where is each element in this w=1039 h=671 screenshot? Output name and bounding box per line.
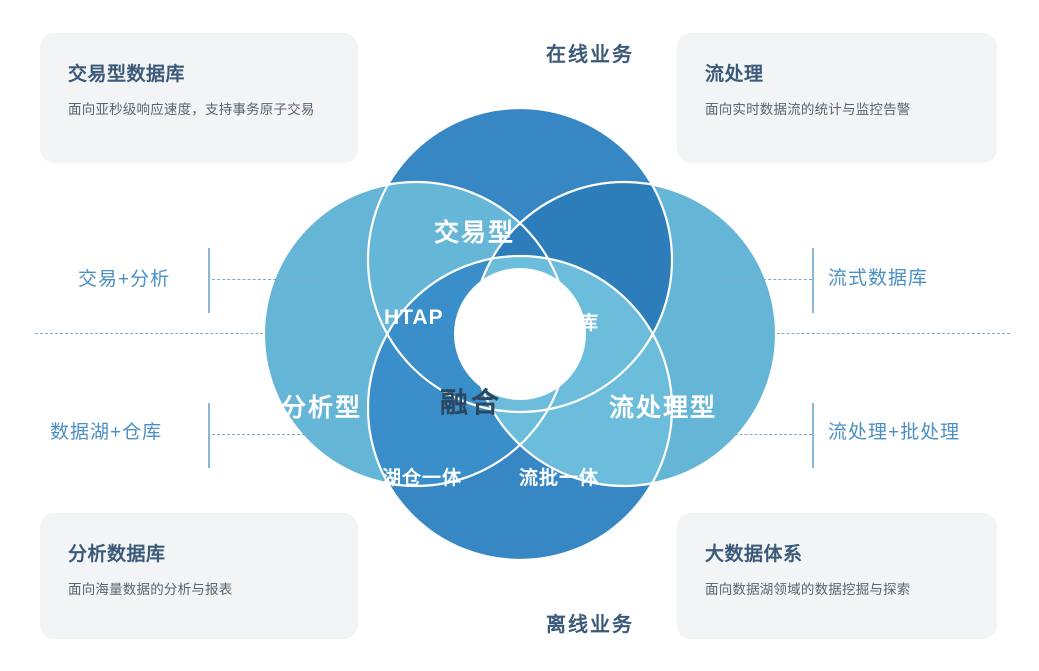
diagram-root: 交易型 分析型 流处理型 大数据 HTAP 流数据库 湖仓一体 流批一体 融合 … <box>0 0 1039 671</box>
dashed-connector-left-upper <box>212 279 327 280</box>
card-description: 面向数据湖领域的数据挖掘与探索 <box>705 578 969 602</box>
card-description: 面向亚秒级响应速度，支持事务原子交易 <box>68 98 330 122</box>
info-card-stream-processing: 流处理 面向实时数据流的统计与监控告警 <box>677 33 997 163</box>
axis-label-offline: 离线业务 <box>546 608 634 637</box>
venn-center-disc <box>454 268 586 400</box>
info-card-bigdata-system: 大数据体系 面向数据湖领域的数据挖掘与探索 <box>677 513 997 639</box>
side-label-right-lower: 流处理+批处理 <box>828 417 960 444</box>
card-title: 大数据体系 <box>705 539 969 566</box>
side-label-left-upper: 交易+分析 <box>78 264 170 291</box>
side-label-right-upper: 流式数据库 <box>828 263 928 290</box>
dashed-connector-right-lower <box>690 434 812 435</box>
card-description: 面向实时数据流的统计与监控告警 <box>705 98 969 122</box>
card-description: 面向海量数据的分析与报表 <box>68 578 330 602</box>
tick-bar-right-upper <box>812 248 814 313</box>
info-card-transactional-database: 交易型数据库 面向亚秒级响应速度，支持事务原子交易 <box>40 33 358 163</box>
tick-bar-left-lower <box>208 403 210 468</box>
tick-bar-right-lower <box>812 403 814 468</box>
dashed-connector-left-lower <box>212 434 340 435</box>
info-card-analytical-database: 分析数据库 面向海量数据的分析与报表 <box>40 513 358 639</box>
dashed-connector-right-upper <box>712 279 812 280</box>
side-label-left-lower: 数据湖+仓库 <box>50 417 162 444</box>
card-title: 流处理 <box>705 59 969 86</box>
card-title: 交易型数据库 <box>68 59 330 86</box>
axis-label-online: 在线业务 <box>546 38 634 67</box>
card-title: 分析数据库 <box>68 539 330 566</box>
tick-bar-left-upper <box>208 248 210 313</box>
